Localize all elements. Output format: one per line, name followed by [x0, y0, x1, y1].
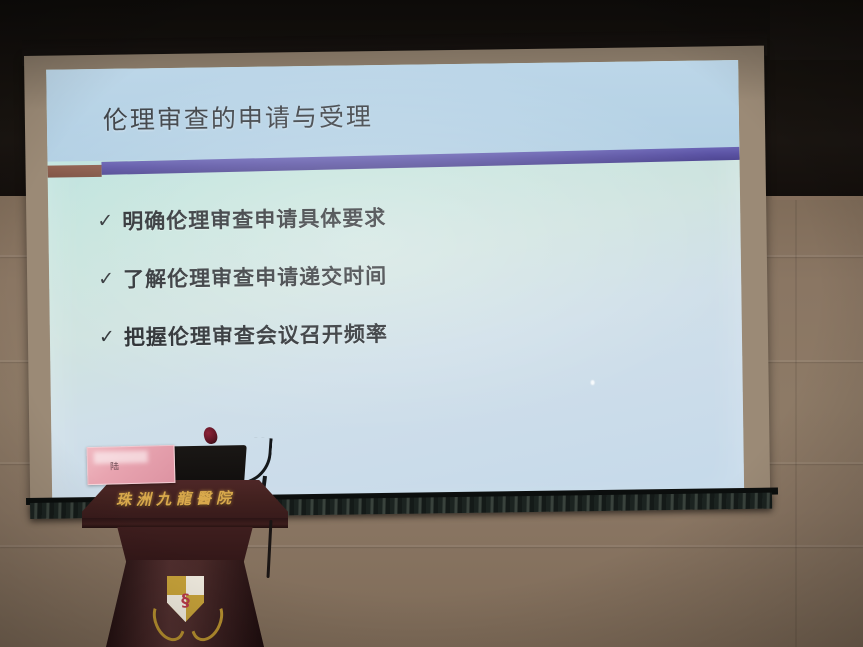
lectern-top-lip [82, 518, 288, 528]
lecture-hall-photo: 伦理审查的申请与受理 ✓ 明确伦理审查申请具体要求 ✓ 了解伦理审查申请递交时间… [0, 0, 863, 647]
lectern: 陆 珠洲九龍醫院 § [78, 424, 293, 647]
list-item: ✓ 把握伦理审查会议召开频率 [90, 303, 691, 363]
dark-ceiling-corner [770, 0, 863, 60]
speaker-name-card: 陆 [87, 445, 176, 485]
wall-panel-seam-vertical [795, 180, 797, 647]
slide-title: 伦理审查的申请与受理 [103, 97, 373, 137]
bullet-text: 了解伦理审查申请递交时间 [123, 260, 387, 294]
name-card-text: 陆 [110, 459, 125, 472]
bullet-text: 明确伦理审查申请具体要求 [122, 202, 386, 236]
checkmark-icon: ✓ [88, 210, 122, 232]
hospital-emblem: § [152, 574, 218, 646]
checkmark-icon: ✓ [90, 326, 124, 348]
bullet-text: 把握伦理审查会议召开频率 [124, 318, 388, 352]
hospital-name-text: 珠洲九龍醫院 [116, 487, 236, 510]
serpent-icon: § [181, 589, 190, 613]
projection-speck [591, 380, 595, 385]
list-item: ✓ 明确伦理审查申请具体要求 [88, 187, 689, 247]
checkmark-icon: ✓ [89, 268, 123, 290]
list-item: ✓ 了解伦理审查申请递交时间 [89, 245, 690, 305]
lectern-neck [108, 527, 262, 563]
divider-accent-block [48, 165, 102, 178]
microphone-cable [266, 520, 272, 578]
slide-bullet-list: ✓ 明确伦理审查申请具体要求 ✓ 了解伦理审查申请递交时间 ✓ 把握伦理审查会议… [88, 187, 690, 369]
